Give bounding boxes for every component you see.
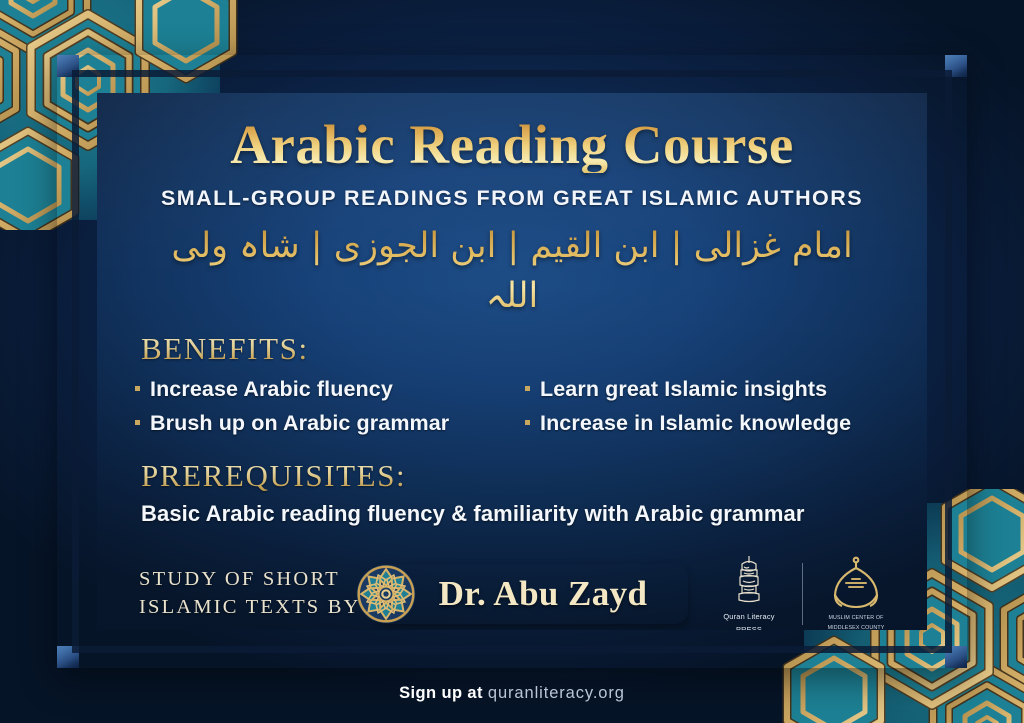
logo-caption-line1: Quran Literacy (723, 612, 774, 621)
list-item: Brush up on Arabic grammar (135, 406, 525, 441)
list-item-label: Learn great Islamic insights (540, 372, 827, 407)
study-by-label: STUDY OF SHORT ISLAMIC TEXTS BY (139, 566, 361, 621)
list-item: Increase Arabic fluency (135, 372, 525, 407)
presenter-name-pill: Dr. Abu Zayd (377, 564, 688, 624)
logo-caption-line2: PRESS (736, 625, 762, 630)
page-title: Arabic Reading Course (125, 116, 899, 173)
bullet-square-icon (135, 386, 140, 391)
list-item-label: Increase in Islamic knowledge (540, 406, 851, 441)
rosette-medallion-icon (355, 563, 417, 625)
prerequisites-text: Basic Arabic reading fluency & familiari… (125, 501, 899, 527)
bullet-square-icon (525, 386, 530, 391)
signup-url[interactable]: quranliteracy.org (488, 684, 625, 702)
logo-caption-line1: MUSLIM CENTER OF (828, 615, 883, 622)
study-by-line1: STUDY OF SHORT (139, 566, 361, 594)
list-item-label: Increase Arabic fluency (150, 372, 393, 407)
signup-label: Sign up at (399, 684, 483, 702)
arabic-author-names: امام غزالی | ابن القیم | ابن الجوزی | شا… (125, 222, 899, 321)
logo-quran-literacy-press: Quran Literacy PRESS (710, 553, 788, 630)
presenter-section: STUDY OF SHORT ISLAMIC TEXTS BY (125, 537, 899, 630)
benefits-list: Increase Arabic fluency Learn great Isla… (125, 372, 899, 442)
logo-muslim-center: MUSLIM CENTER OF MIDDLESEX COUNTY (817, 556, 895, 630)
poster-root: Arabic Reading Course SMALL-GROUP READIN… (0, 0, 1024, 723)
list-item-label: Brush up on Arabic grammar (150, 406, 449, 441)
mosque-dome-icon (827, 556, 885, 612)
prerequisites-heading: PREREQUISITES: (125, 458, 899, 494)
partner-logos: Quran Literacy PRESS (710, 553, 895, 630)
benefits-heading: BENEFITS: (125, 331, 899, 367)
minaret-calligraphy-icon (729, 553, 769, 609)
prerequisites-section: PREREQUISITES: Basic Arabic reading flue… (125, 448, 899, 537)
presenter-name: Dr. Abu Zayd (439, 574, 648, 614)
list-item: Increase in Islamic knowledge (525, 406, 899, 441)
bullet-square-icon (135, 420, 140, 425)
signup-footer: Sign up at quranliteracy.org (0, 684, 1024, 703)
logo-caption-line2: MIDDLESEX COUNTY (828, 625, 885, 630)
logo-separator (802, 563, 803, 625)
bullet-square-icon (525, 420, 530, 425)
study-by-line2: ISLAMIC TEXTS BY (139, 594, 361, 622)
list-item: Learn great Islamic insights (525, 372, 899, 407)
page-subtitle: SMALL-GROUP READINGS FROM GREAT ISLAMIC … (125, 186, 899, 211)
benefits-section: BENEFITS: Increase Arabic fluency Learn … (125, 322, 899, 449)
poster-card: Arabic Reading Course SMALL-GROUP READIN… (97, 93, 927, 630)
